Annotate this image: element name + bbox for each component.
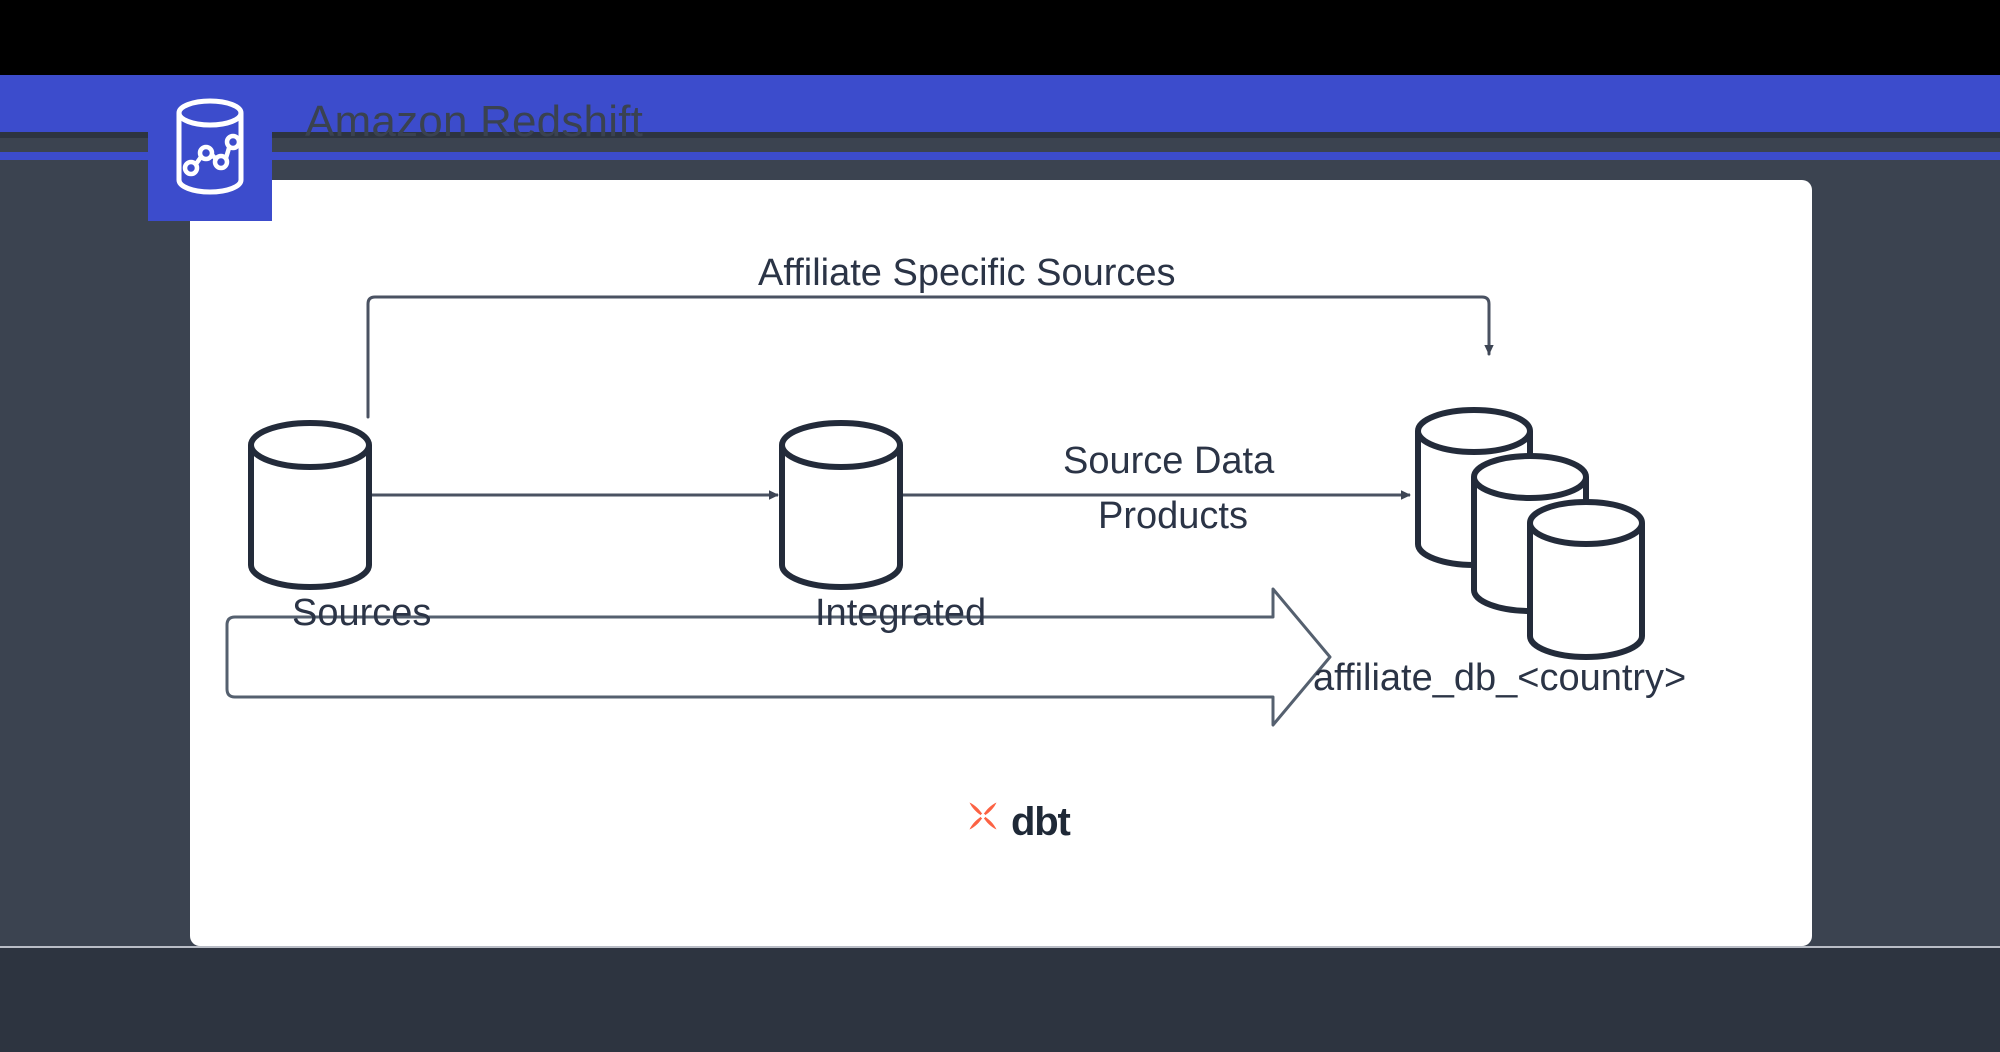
edge-sources-to-affiliate-dbs [368,297,1489,417]
dbt-logo: dbt [962,798,1070,845]
page-title: Amazon Redshift [305,96,643,148]
cylinder-affiliate-db-3 [1530,502,1642,657]
background-navy-band [0,948,2000,1052]
cylinder-integrated [782,423,900,587]
amazon-redshift-database-icon [171,96,249,200]
amazon-redshift-icon-tile [148,75,272,221]
node-label-integrated: Integrated [815,592,986,635]
screenshot-root: Amazon Redshift [0,0,2000,1052]
dbt-mark-icon [962,798,1004,845]
header-banner [0,75,2000,132]
edge-label-products: Products [1098,495,1248,538]
node-label-sources: Sources [292,592,431,635]
edge-label-affiliate-specific-sources: Affiliate Specific Sources [758,252,1176,295]
node-label-affiliate-db: affiliate_db_<country> [1313,657,1686,700]
cylinder-sources [251,423,369,587]
header-underline [0,132,2000,138]
edge-label-source-data: Source Data [1063,440,1274,483]
header-underline-secondary [0,152,2000,160]
dbt-wordmark: dbt [1011,802,1070,842]
